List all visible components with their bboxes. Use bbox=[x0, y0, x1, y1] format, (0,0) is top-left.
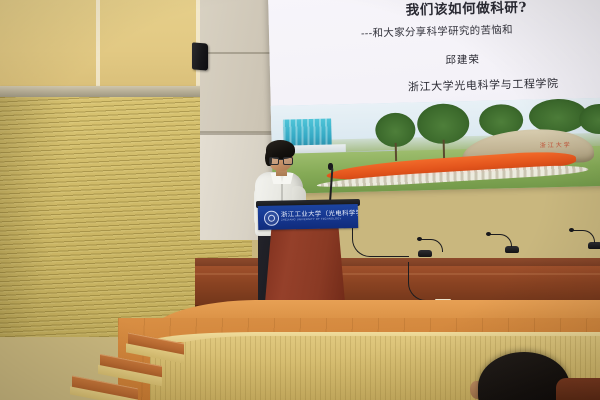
table-mic-2-head bbox=[486, 232, 491, 236]
table-mic-3-head bbox=[569, 228, 574, 232]
slide-affiliation: 浙江大学光电科学与工程学院 bbox=[356, 74, 600, 96]
slide-subtitle: ---和大家分享科学研究的苦恼和 bbox=[361, 20, 600, 41]
table-mic-1-neck bbox=[420, 239, 443, 252]
table-mic-3-base bbox=[588, 242, 600, 249]
floor-cable bbox=[408, 262, 439, 301]
lecture-hall-photo: 我们该如何做科研? ---和大家分享科学研究的苦恼和 邱建荣 浙江大学光电科学与… bbox=[0, 0, 600, 400]
audience-seat-back bbox=[556, 378, 600, 400]
mic-cable bbox=[352, 222, 409, 257]
eyeglasses-icon bbox=[269, 157, 292, 163]
slide-author: 邱建荣 bbox=[316, 49, 600, 71]
slide-text-block: 我们该如何做科研? ---和大家分享科学研究的苦恼和 邱建荣 浙江大学光电科学与… bbox=[268, 0, 600, 98]
podium-banner-en: ZHEJIANG UNIVERSITY OF TECHNOLOGY bbox=[281, 217, 342, 221]
slide-campus-photo: 浙江大学 bbox=[268, 98, 600, 194]
photo-tree bbox=[417, 103, 470, 144]
podium-banner: 浙江工业大学（光电科学学院） ZHEJIANG UNIVERSITY OF TE… bbox=[258, 204, 358, 230]
loudspeaker-icon bbox=[192, 42, 208, 70]
table-mic-1-head bbox=[417, 237, 422, 241]
university-seal-icon bbox=[264, 211, 279, 226]
table-mic-3-neck bbox=[572, 230, 595, 243]
photo-tree-trunk bbox=[395, 143, 397, 161]
photo-monument-text: 浙江大学 bbox=[540, 140, 572, 150]
slide-title: 我们该如何做科研? bbox=[324, 0, 600, 21]
table-mic-2-base bbox=[505, 246, 519, 253]
projection-screen: 我们该如何做科研? ---和大家分享科学研究的苦恼和 邱建荣 浙江大学光电科学与… bbox=[268, 0, 600, 194]
table-mic-2-neck bbox=[489, 234, 512, 247]
